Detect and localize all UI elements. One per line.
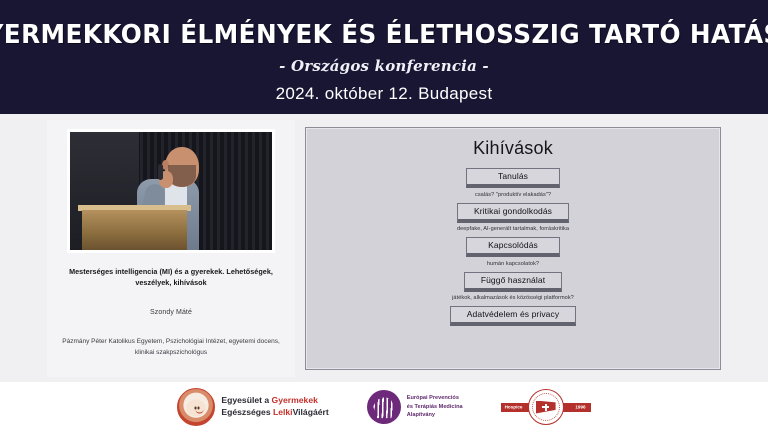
egyesulet-gyermekek-label: Egyesület a Gyermekek Egészséges LelkiVi…	[221, 395, 328, 418]
logo1-line1a: Egyesület a	[221, 395, 271, 405]
photo-podium	[82, 210, 187, 250]
logo3-left-label: Hospice	[505, 405, 523, 410]
challenge-note-kritikai-gondolkodas: deepfake, AI-generált tartalmak, forrásk…	[457, 226, 569, 232]
slide-body: Mesterséges intelligencia (MI) és a gyer…	[0, 114, 768, 382]
logo3-right-bar: 1996	[561, 403, 591, 412]
open-hand-icon	[367, 390, 401, 424]
challenge-item: Függő használat játékok, alkalmazások és…	[452, 272, 574, 302]
challenge-chip-kritikai-gondolkodas[interactable]: Kritikai gondolkodás	[457, 203, 569, 223]
challenge-note-kapcsolodas: humán kapcsolatok?	[487, 261, 539, 267]
logo2-line2: és Terápiás Medicina	[407, 403, 463, 411]
child-face-inner	[187, 399, 206, 416]
medical-seal-icon	[528, 389, 564, 425]
logo1-line2b: Lelki	[273, 407, 293, 417]
challenge-chip-kapcsolodas[interactable]: Kapcsolódás	[466, 237, 560, 257]
open-hand-glyph	[373, 397, 394, 418]
logo1-line2a: Egészséges	[221, 407, 273, 417]
challenge-item: Kritikai gondolkodás deepfake, AI-generá…	[457, 203, 569, 233]
microphone-icon	[158, 164, 163, 180]
logo1-line1b: Gyermekek	[272, 395, 318, 405]
speaker-photo	[67, 129, 275, 253]
logo3-left-bar: Hospice	[501, 403, 531, 412]
header-subtitle: - Országos konferencia -	[279, 57, 489, 75]
challenge-item: Tanulás csalás? "produktív elakadás"?	[466, 168, 560, 198]
europai-prevencios-label: Európai Prevenciós és Terápiás Medicina …	[407, 394, 463, 419]
sponsor-logos-footer: Egyesület a Gyermekek Egészséges LelkiVi…	[0, 382, 768, 432]
cross-icon	[542, 404, 549, 411]
challenge-note-fuggo-hasznalat: játékok, alkalmazások és közösségi platf…	[452, 295, 574, 301]
logo2-line3: Alapítvány	[407, 411, 463, 419]
slide-root: A GYERMEKKORI ÉLMÉNYEK ÉS ÉLETHOSSZIG TA…	[0, 0, 768, 432]
challenge-item: Kapcsolódás humán kapcsolatok?	[466, 237, 560, 267]
challenge-chip-tanulas[interactable]: Tanulás	[466, 168, 560, 188]
page-title: A GYERMEKKORI ÉLMÉNYEK ÉS ÉLETHOSSZIG TA…	[0, 20, 768, 50]
header-date: 2024. október 12. Budapest	[276, 84, 493, 104]
logo3-right-label: 1996	[575, 405, 585, 410]
speaker-affiliation: Pázmány Péter Katolikus Egyetem, Pszicho…	[60, 337, 282, 358]
conference-header: A GYERMEKKORI ÉLMÉNYEK ÉS ÉLETHOSSZIG TA…	[0, 0, 768, 114]
challenge-chip-fuggo-hasznalat[interactable]: Függő használat	[464, 272, 562, 292]
challenge-chip-adatvedelem[interactable]: Adatvédelem és privacy	[450, 306, 576, 326]
europai-prevencios-logo: Európai Prevenciós és Terápiás Medicina …	[367, 390, 463, 424]
child-mouth-icon	[195, 409, 203, 413]
speaker-name: Szondy Máté	[64, 309, 278, 316]
challenge-note-tanulas: csalás? "produktív elakadás"?	[475, 192, 551, 198]
child-face-icon	[177, 388, 215, 426]
talk-title: Mesterséges intelligencia (MI) és a gyer…	[64, 266, 278, 288]
challenge-item: Adatvédelem és privacy	[450, 306, 576, 326]
challenges-panel: Kihívások Tanulás csalás? "produktív ela…	[305, 127, 721, 370]
orvosi-emblema-logo: Hospice 1996	[501, 389, 591, 425]
challenges-list: Tanulás csalás? "produktív elakadás"? Kr…	[306, 168, 720, 331]
logo1-line2c: Világáért	[293, 407, 329, 417]
logo2-line1: Európai Prevenciós	[407, 394, 463, 402]
panel-heading: Kihívások	[306, 138, 720, 159]
egyesulet-gyermekek-logo: Egyesület a Gyermekek Egészséges LelkiVi…	[177, 388, 328, 426]
speaker-card: Mesterséges intelligencia (MI) és a gyer…	[47, 120, 295, 377]
